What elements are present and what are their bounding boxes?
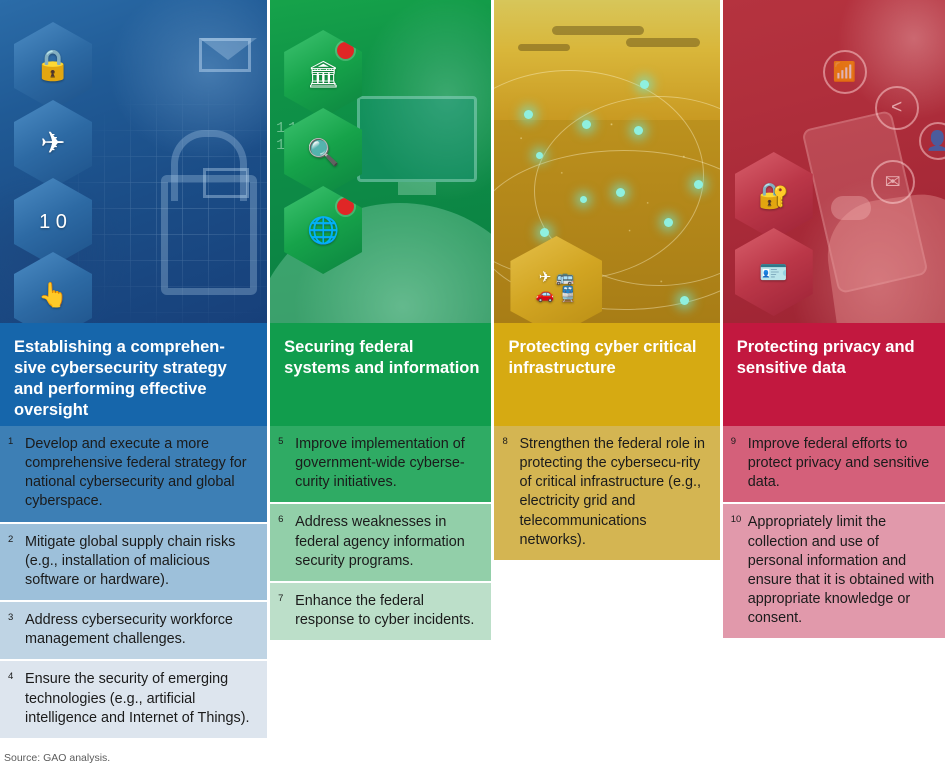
building-glyph: 🏛	[307, 61, 340, 87]
binary-glyph: 1 0	[39, 212, 67, 232]
items-privacy: 9 Improve federal efforts to protect pri…	[723, 426, 945, 638]
share-glyph: <	[891, 97, 902, 119]
column-federal-systems: 110101100010 🏛 🔍 🌐 Securing federal syst…	[270, 0, 491, 745]
header-band-privacy: Protecting privacy and sensitive data	[723, 323, 945, 426]
hero-image-privacy: 📶 < ✉ 👤 🔐 🪪	[723, 0, 945, 323]
list-item[interactable]: 8 Strengthen the federal role in protect…	[494, 426, 719, 560]
item-text: Develop and execute a more comprehensive…	[25, 435, 257, 512]
items-critical-infrastructure: 8 Strengthen the federal role in protect…	[494, 426, 719, 560]
hand-glyph: 👆	[38, 284, 68, 308]
hero-image-critical-infrastructure: ✈ 🚌🚗 🚆	[494, 0, 719, 323]
header-band-federal-systems: Securing federal systems and information	[270, 323, 491, 426]
transport-glyph: ✈ 🚌🚗 🚆	[536, 269, 578, 304]
items-strategy: 1 Develop and execute a more comprehensi…	[0, 426, 267, 738]
item-number: 1	[8, 435, 25, 447]
share-icon: <	[875, 86, 919, 130]
item-text: Address weaknesses in federal agency inf…	[295, 513, 481, 570]
header-title-strategy: Establishing a comprehen-sive cybersecur…	[14, 337, 255, 421]
item-number: 9	[731, 435, 748, 447]
cloud-icon	[831, 196, 871, 220]
list-item[interactable]: 5 Improve implementation of government-w…	[270, 426, 491, 504]
item-number: 5	[278, 435, 295, 447]
header-band-strategy: Establishing a comprehen-sive cybersecur…	[0, 323, 267, 426]
column-critical-infrastructure: ✈ 🚌🚗 🚆 Protecting cyber critical infrast…	[494, 0, 719, 745]
list-item[interactable]: 10 Appropriately limit the collection an…	[723, 504, 945, 638]
item-text: Appropriately limit the collection and u…	[748, 513, 935, 628]
column-privacy: 📶 < ✉ 👤 🔐 🪪	[723, 0, 945, 745]
header-title-privacy: Protecting privacy and sensitive data	[737, 337, 933, 379]
item-text: Address cybersecurity workforce manageme…	[25, 611, 257, 649]
header-title-federal-systems: Securing federal systems and information	[284, 337, 479, 379]
item-text: Enhance the federal response to cyber in…	[295, 592, 481, 630]
gao-cybersecurity-infographic: 🔒 ✈ 1 0 👆 Establishing a comprehen-sive …	[0, 0, 945, 778]
item-number: 7	[278, 592, 295, 604]
list-item[interactable]: 2 Mitigate global supply chain risks (e.…	[0, 524, 267, 602]
item-text: Mitigate global supply chain risks (e.g.…	[25, 533, 257, 590]
cloud-shape	[518, 44, 570, 51]
item-text: Strengthen the federal role in protectin…	[519, 435, 709, 550]
person-glyph: 👤	[926, 129, 945, 153]
list-item[interactable]: 9 Improve federal efforts to protect pri…	[723, 426, 945, 504]
cloud-shape	[552, 26, 644, 35]
list-item[interactable]: 7 Enhance the federal response to cyber …	[270, 583, 491, 640]
mail-icon: ✉	[871, 160, 915, 204]
item-text: Improve federal efforts to protect priva…	[748, 435, 935, 492]
item-text: Improve implementation of government-wid…	[295, 435, 481, 492]
header-band-critical-infrastructure: Protecting cyber critical infrastructure	[494, 323, 719, 426]
list-item[interactable]: 4 Ensure the security of emerging techno…	[0, 661, 267, 737]
padlock-glyph: 🔒	[34, 51, 71, 81]
item-number: 2	[8, 533, 25, 545]
wifi-glyph: 📶	[833, 60, 857, 84]
envelope-icon	[203, 168, 249, 198]
item-text: Ensure the security of emerging technolo…	[25, 670, 257, 727]
airplane-glyph: ✈	[40, 129, 65, 159]
source-note: Source: GAO analysis.	[4, 752, 110, 764]
items-federal-systems: 5 Improve implementation of government-w…	[270, 426, 491, 640]
list-item[interactable]: 1 Develop and execute a more comprehensi…	[0, 426, 267, 524]
hero-image-strategy: 🔒 ✈ 1 0 👆	[0, 0, 267, 323]
mail-glyph: ✉	[885, 171, 901, 194]
item-number: 10	[731, 513, 748, 525]
cloud-shape	[626, 38, 700, 47]
padlock-arrows-glyph: 🔐	[758, 184, 789, 209]
id-card-glyph: 🪪	[759, 261, 788, 284]
item-number: 6	[278, 513, 295, 525]
list-item[interactable]: 3 Address cybersecurity workforce manage…	[0, 602, 267, 661]
envelope-icon	[199, 38, 251, 72]
item-number: 8	[502, 435, 519, 447]
column-strategy: 🔒 ✈ 1 0 👆 Establishing a comprehen-sive …	[0, 0, 267, 745]
hero-image-federal-systems: 110101100010 🏛 🔍 🌐	[270, 0, 491, 323]
item-number: 3	[8, 611, 25, 623]
column-container: 🔒 ✈ 1 0 👆 Establishing a comprehen-sive …	[0, 0, 945, 745]
list-item[interactable]: 6 Address weaknesses in federal agency i…	[270, 504, 491, 582]
item-number: 4	[8, 670, 25, 682]
header-title-critical-infrastructure: Protecting cyber critical infrastructure	[508, 337, 707, 379]
magnifier-glyph: 🔍	[307, 139, 339, 165]
person-icon: 👤	[919, 122, 945, 160]
globe-glyph: 🌐	[307, 217, 339, 243]
wifi-icon: 📶	[823, 50, 867, 94]
